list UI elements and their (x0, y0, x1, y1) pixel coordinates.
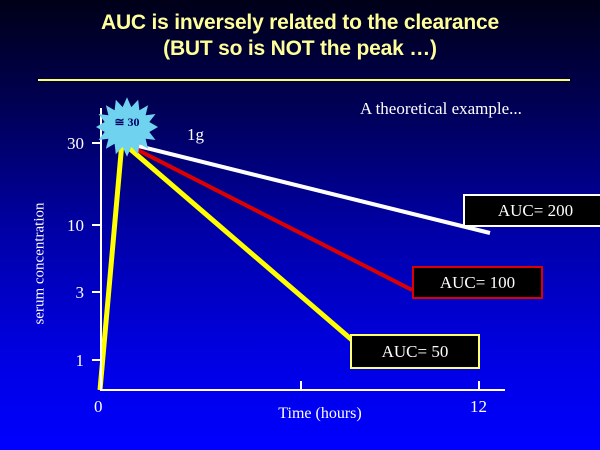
x-tick-label-12: 12 (470, 397, 487, 417)
auc-callout-50: AUC= 50 (350, 334, 480, 369)
y-axis-title: serum concentration (32, 174, 49, 354)
auc-callout-200: AUC= 200 (463, 194, 600, 227)
x-axis-title: Time (hours) (205, 405, 435, 423)
x-tick-mark-mid (300, 381, 302, 389)
y-tick-label-30: 30 (48, 134, 84, 154)
y-tick-mark-1 (92, 359, 101, 361)
chart-plot-area: 30 10 3 1 0 12 serum concentration Time … (0, 0, 600, 450)
y-tick-label-10: 10 (48, 216, 84, 236)
x-axis-line (100, 389, 505, 391)
auc-callout-100: AUC= 100 (412, 266, 543, 299)
slide: AUC is inversely related to the clearanc… (0, 0, 600, 450)
y-tick-label-1: 1 (48, 351, 84, 371)
y-tick-label-3: 3 (48, 283, 84, 303)
starburst-icon (93, 96, 161, 158)
dose-label: 1g (187, 125, 204, 145)
curve-high-clearance (100, 142, 352, 390)
auc-callout-50-label: AUC= 50 (382, 342, 449, 362)
auc-callout-100-label: AUC= 100 (440, 273, 515, 293)
x-tick-label-0: 0 (94, 397, 103, 417)
auc-callout-200-label: AUC= 200 (498, 201, 573, 221)
y-tick-mark-3 (92, 291, 101, 293)
x-tick-mark-12 (478, 381, 480, 389)
y-tick-mark-10 (92, 224, 101, 226)
